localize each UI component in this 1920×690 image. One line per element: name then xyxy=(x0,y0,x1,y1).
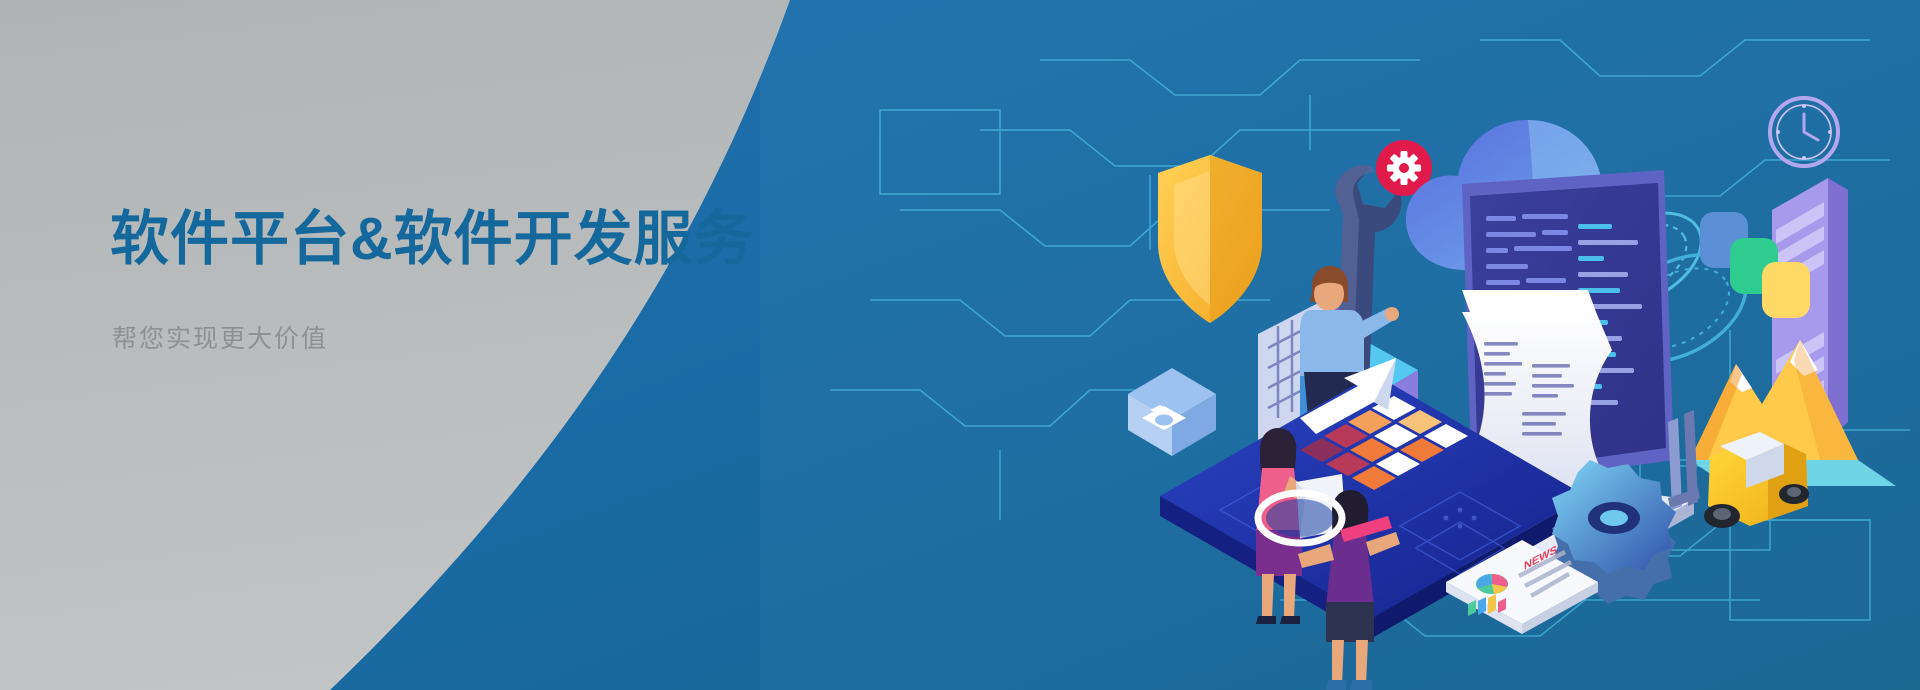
page-subtitle: 帮您实现更大价值 xyxy=(112,323,870,356)
page-title: 软件平台&软件开发服务 xyxy=(110,205,870,275)
hero-banner: NEWS 软件平台& xyxy=(0,0,1920,690)
banner-text-block: 软件平台&软件开发服务 帮您实现更大价值 xyxy=(110,205,870,355)
